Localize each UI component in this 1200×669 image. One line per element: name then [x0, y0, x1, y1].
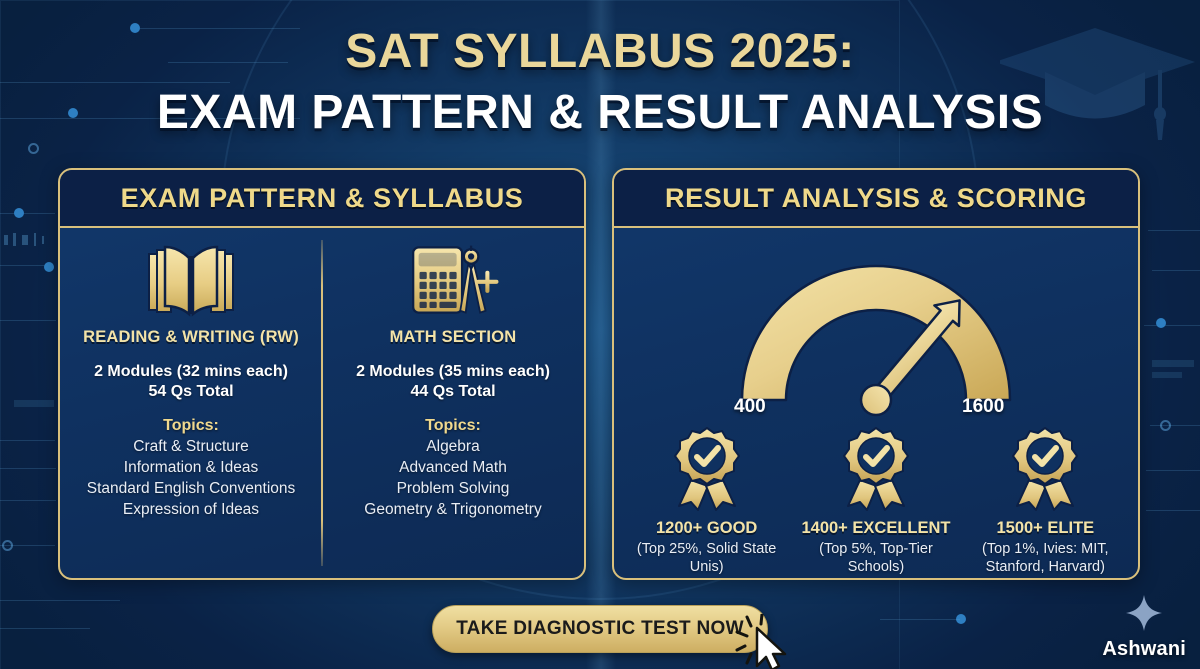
- gauge-graphic: [614, 232, 1138, 432]
- circuit-tick: [22, 235, 28, 245]
- circuit-trace: [1148, 230, 1200, 231]
- reading-writing-topics-label: Topics:: [163, 417, 219, 435]
- math-section-title: MATH SECTION: [390, 328, 517, 347]
- score-tier-good: 1200+ GOOD (Top 25%, Solid State Unis): [624, 426, 790, 576]
- award-ribbon-check-icon: [1008, 426, 1082, 512]
- result-analysis-panel: RESULT ANALYSIS & SCORING: [612, 168, 1140, 580]
- award-ribbon-check-icon: [839, 426, 913, 512]
- score-tier-title: 1200+ GOOD: [656, 519, 757, 538]
- circuit-trace: [0, 320, 56, 321]
- math-section-topic: Advanced Math: [399, 459, 507, 477]
- reading-writing-topic: Standard English Conventions: [87, 480, 296, 498]
- circuit-trace: [0, 545, 55, 546]
- reading-writing-topic: Craft & Structure: [133, 438, 248, 456]
- page-title: SAT SYLLABUS 2025: EXAM PATTERN & RESULT…: [0, 24, 1200, 140]
- reading-writing-topic: Information & Ideas: [124, 459, 258, 477]
- cta-label: TAKE DIAGNOSTIC TEST NOW: [456, 618, 744, 640]
- score-tier-title: 1400+ EXCELLENT: [801, 519, 950, 538]
- watermark: Ashwani: [1102, 593, 1186, 661]
- circuit-trace: [1150, 425, 1200, 426]
- circuit-node: [14, 208, 24, 218]
- circuit-trace: [1146, 470, 1200, 471]
- circuit-tick: [4, 235, 8, 245]
- score-tier-list: 1200+ GOOD (Top 25%, Solid State Unis) 1…: [614, 426, 1138, 576]
- result-analysis-heading: RESULT ANALYSIS & SCORING: [665, 183, 1087, 214]
- circuit-trace: [0, 600, 120, 601]
- circuit-trace: [0, 440, 55, 441]
- circuit-tick: [13, 233, 16, 246]
- reading-writing-column: READING & WRITING (RW) 2 Modules (32 min…: [60, 228, 322, 578]
- circuit-trace: [0, 628, 90, 629]
- gauge-max-label: 1600: [962, 396, 1004, 418]
- circuit-trace: [1144, 325, 1200, 326]
- exam-pattern-panel-body: READING & WRITING (RW) 2 Modules (32 min…: [60, 228, 584, 578]
- exam-pattern-panel-header: EXAM PATTERN & SYLLABUS: [60, 170, 584, 228]
- circuit-chip: [14, 400, 54, 407]
- title-line-1: SAT SYLLABUS 2025:: [0, 24, 1200, 79]
- reading-writing-questions: 54 Qs Total: [148, 383, 233, 401]
- score-tier-excellent: 1400+ EXCELLENT (Top 5%, Top-Tier School…: [793, 426, 959, 576]
- circuit-node: [1156, 318, 1166, 328]
- result-analysis-panel-header: RESULT ANALYSIS & SCORING: [614, 170, 1138, 228]
- reading-writing-title: READING & WRITING (RW): [83, 328, 299, 347]
- calculator-compass-icon: [407, 242, 499, 318]
- circuit-chip: [1152, 372, 1182, 378]
- circuit-chip: [1152, 360, 1194, 367]
- reading-writing-topic: Expression of Ideas: [123, 501, 259, 519]
- math-section-topic: Problem Solving: [397, 480, 510, 498]
- circuit-trace: [1146, 510, 1200, 511]
- score-tier-title: 1500+ ELITE: [996, 519, 1094, 538]
- math-section-topic: Algebra: [426, 438, 479, 456]
- circuit-node: [956, 614, 966, 624]
- math-section-topic: Geometry & Trigonometry: [364, 501, 541, 519]
- circuit-trace: [1152, 270, 1200, 271]
- circuit-trace: [0, 500, 56, 501]
- take-diagnostic-test-button[interactable]: TAKE DIAGNOSTIC TEST NOW: [432, 605, 768, 653]
- circuit-trace: [0, 265, 52, 266]
- math-section-modules: 2 Modules (35 mins each): [356, 363, 550, 381]
- circuit-trace: [0, 213, 55, 214]
- award-ribbon-check-icon: [670, 426, 744, 512]
- open-book-icon: [145, 242, 237, 318]
- title-line-2: EXAM PATTERN & RESULT ANALYSIS: [0, 85, 1200, 140]
- circuit-node: [1160, 420, 1171, 431]
- circuit-node: [28, 143, 39, 154]
- circuit-trace: [0, 468, 56, 469]
- reading-writing-modules: 2 Modules (32 mins each): [94, 363, 288, 381]
- exam-pattern-heading: EXAM PATTERN & SYLLABUS: [121, 183, 524, 214]
- infographic-canvas: SAT SYLLABUS 2025: EXAM PATTERN & RESULT…: [0, 0, 1200, 669]
- circuit-node: [2, 540, 13, 551]
- score-gauge: 400 1600: [614, 228, 1138, 426]
- result-analysis-panel-body: 400 1600: [614, 228, 1138, 578]
- score-tier-subtitle: (Top 25%, Solid State Unis): [624, 540, 790, 576]
- circuit-node: [44, 262, 54, 272]
- math-section-questions: 44 Qs Total: [410, 383, 495, 401]
- circuit-tick: [42, 236, 44, 244]
- sparkle-star-icon: [1123, 593, 1165, 633]
- click-cursor-icon: [735, 614, 797, 669]
- circuit-trace: [880, 619, 960, 620]
- column-divider: [321, 240, 323, 566]
- score-tier-subtitle: (Top 5%, Top-Tier Schools): [793, 540, 959, 576]
- score-tier-subtitle: (Top 1%, Ivies: MIT, Stanford, Harvard): [962, 540, 1128, 576]
- watermark-name: Ashwani: [1102, 638, 1186, 661]
- math-section-column: MATH SECTION 2 Modules (35 mins each) 44…: [322, 228, 584, 578]
- exam-pattern-panel: EXAM PATTERN & SYLLABUS: [58, 168, 586, 580]
- score-tier-elite: 1500+ ELITE (Top 1%, Ivies: MIT, Stanfor…: [962, 426, 1128, 576]
- math-section-topics-label: Topics:: [425, 417, 481, 435]
- circuit-tick: [34, 233, 36, 246]
- gauge-min-label: 400: [734, 396, 766, 418]
